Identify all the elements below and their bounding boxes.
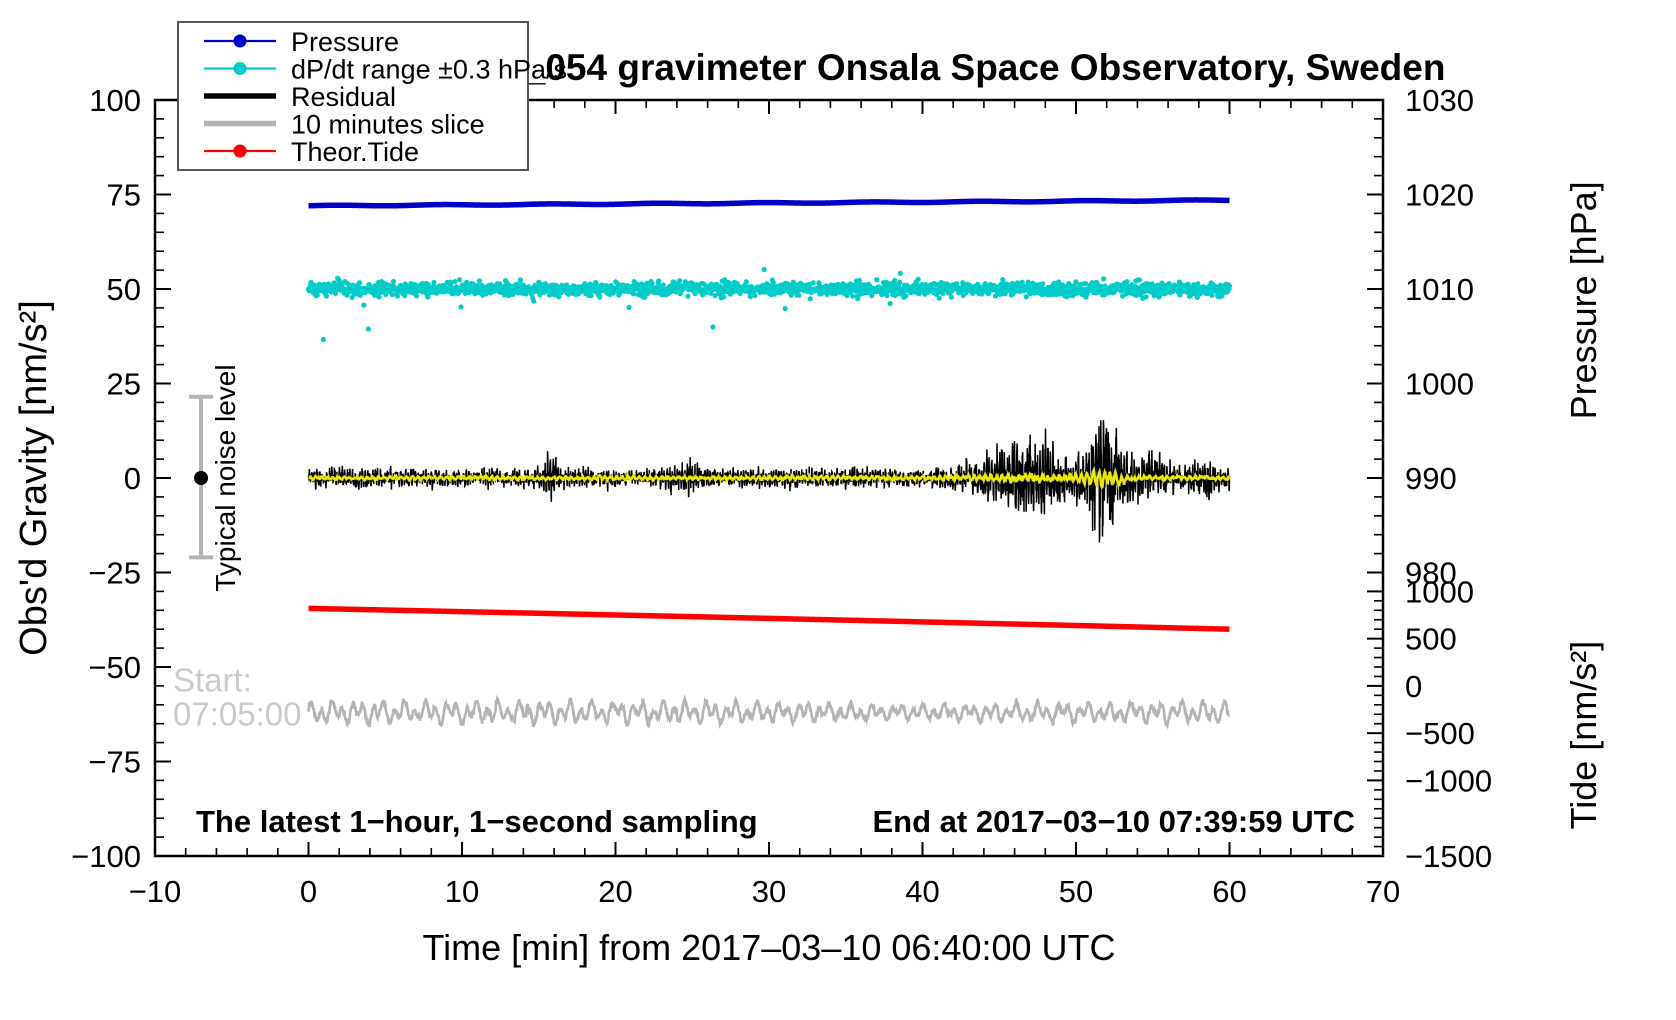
chart-title: SCG_054 gravimeter Onsala Space Observat… [445, 47, 1446, 88]
dpdt-point [937, 296, 942, 301]
legend-label: 10 minutes slice [291, 110, 485, 140]
dpdt-point [395, 294, 400, 299]
dpdt-point [874, 277, 879, 282]
dpdt-point [710, 324, 715, 329]
y-tick-label: −25 [88, 556, 141, 591]
x-tick-label: 10 [445, 874, 479, 909]
dpdt-point [626, 305, 631, 310]
x-tick-label: 50 [1059, 874, 1093, 909]
y-tick-label: −75 [88, 745, 141, 780]
series-slice [309, 698, 1230, 727]
dpdt-point [721, 294, 726, 299]
x-tick-label: 40 [905, 874, 939, 909]
dpdt-point [1101, 276, 1106, 281]
chart-root: −10010203040506070Time [min] from 2017–0… [0, 0, 1676, 1020]
dpdt-point [762, 267, 767, 272]
series-dpdt [306, 267, 1232, 342]
tide-tick-label: 500 [1405, 622, 1457, 657]
dpdt-point [518, 277, 523, 282]
dpdt-point [431, 280, 436, 285]
legend-swatch-marker [234, 35, 247, 48]
dpdt-point [1083, 281, 1088, 286]
x-tick-label: −10 [129, 874, 182, 909]
pressure-tick-label: 1020 [1405, 178, 1474, 213]
dpdt-band [309, 288, 1230, 290]
dpdt-point [1137, 277, 1142, 282]
slice-trace [309, 698, 1230, 727]
pressure-tick-label: 1000 [1405, 367, 1474, 402]
dpdt-point [477, 278, 482, 283]
dpdt-point [811, 280, 816, 285]
x-tick-label: 0 [300, 874, 317, 909]
dpdt-point [357, 280, 362, 285]
dpdt-point [796, 293, 801, 298]
start-time: 07:05:00 [173, 696, 301, 733]
dpdt-point [589, 293, 594, 298]
x-axis-title: Time [min] from 2017–03–10 06:40:00 UTC [422, 927, 1115, 968]
tide-tick-label: −1000 [1405, 763, 1492, 798]
y-tick-label: −50 [88, 650, 141, 685]
legend-label: Pressure [291, 27, 399, 57]
dpdt-point [414, 293, 419, 298]
dpdt-point [361, 303, 366, 308]
dpdt-point [1143, 294, 1148, 299]
dpdt-point [1125, 279, 1130, 284]
noise-level-label: Typical noise level [210, 364, 241, 591]
noise-center-dot [194, 471, 208, 485]
dpdt-point [556, 294, 561, 299]
tide-axis-title: Tide [nm/s²] [1563, 641, 1604, 830]
dpdt-point [887, 301, 892, 306]
dpdt-point [916, 277, 921, 282]
dpdt-point [771, 280, 776, 285]
dpdt-point [377, 294, 382, 299]
dpdt-point [949, 295, 954, 300]
dpdt-point [677, 278, 682, 283]
dpdt-point [452, 279, 457, 284]
dpdt-point [897, 280, 902, 285]
dpdt-point [1040, 281, 1045, 286]
x-tick-label: 60 [1212, 874, 1246, 909]
pressure-tick-label: 990 [1405, 461, 1457, 496]
theor-tide-trace [309, 608, 1230, 629]
dpdt-point [324, 293, 329, 298]
dpdt-point [594, 282, 599, 287]
dpdt-point [855, 296, 860, 301]
y-tick-label: 25 [107, 367, 141, 402]
tide-tick-label: 1000 [1405, 574, 1474, 609]
dpdt-point [390, 292, 395, 297]
dpdt-point [892, 278, 897, 283]
x-tick-label: 70 [1366, 874, 1400, 909]
gravimeter-plot: −10010203040506070Time [min] from 2017–0… [0, 0, 1676, 1020]
y-tick-label: 100 [89, 83, 141, 118]
x-tick-label: 20 [598, 874, 632, 909]
start-label: Start: [173, 662, 252, 699]
legend-swatch-marker [234, 145, 247, 158]
series-pressure [309, 200, 1230, 206]
dpdt-point [783, 306, 788, 311]
pressure-axis-title: Pressure [hPa] [1563, 181, 1604, 419]
dpdt-point [321, 337, 326, 342]
legend: PressuredP/dt range ±0.3 hPa/sResidual10… [178, 22, 567, 170]
dpdt-point [458, 304, 463, 309]
pressure-tick-label: 1010 [1405, 272, 1474, 307]
y-tick-label: −100 [71, 839, 141, 874]
dpdt-point [808, 296, 813, 301]
dpdt-point [531, 299, 536, 304]
dpdt-point [391, 279, 396, 284]
y-tick-label: 75 [107, 178, 141, 213]
footer-right-note: End at 2017−03−10 07:39:59 UTC [873, 804, 1356, 839]
dpdt-point [1024, 294, 1029, 299]
legend-label: Residual [291, 82, 396, 112]
series-theor-tide [309, 608, 1230, 629]
tide-tick-label: −500 [1405, 716, 1475, 751]
dpdt-point [685, 294, 690, 299]
dpdt-point [850, 293, 855, 298]
dpdt-point [1209, 293, 1214, 298]
dpdt-point [656, 278, 661, 283]
y-tick-label: 0 [124, 461, 141, 496]
dpdt-point [366, 326, 371, 331]
y-tick-label: 50 [107, 272, 141, 307]
pressure-trace [309, 200, 1230, 206]
dpdt-point [898, 271, 903, 276]
y-axis-title: Obs'd Gravity [nm/s²] [13, 300, 55, 656]
legend-swatch-marker [234, 62, 247, 75]
tide-tick-label: −1500 [1405, 839, 1492, 874]
legend-label: dP/dt range ±0.3 hPa/s [291, 55, 567, 85]
x-tick-label: 30 [752, 874, 786, 909]
dpdt-point [597, 295, 602, 300]
dpdt-point [903, 293, 908, 298]
dpdt-point [457, 277, 462, 282]
dpdt-point [884, 293, 889, 298]
legend-label: Theor.Tide [291, 137, 419, 167]
pressure-tick-label: 1030 [1405, 83, 1474, 118]
dpdt-point [631, 291, 636, 296]
tide-tick-label: 0 [1405, 669, 1422, 704]
footer-left-note: The latest 1−hour, 1−second sampling [196, 804, 758, 839]
noise-level-indicator: Typical noise level [189, 364, 241, 591]
dpdt-point [752, 293, 757, 298]
